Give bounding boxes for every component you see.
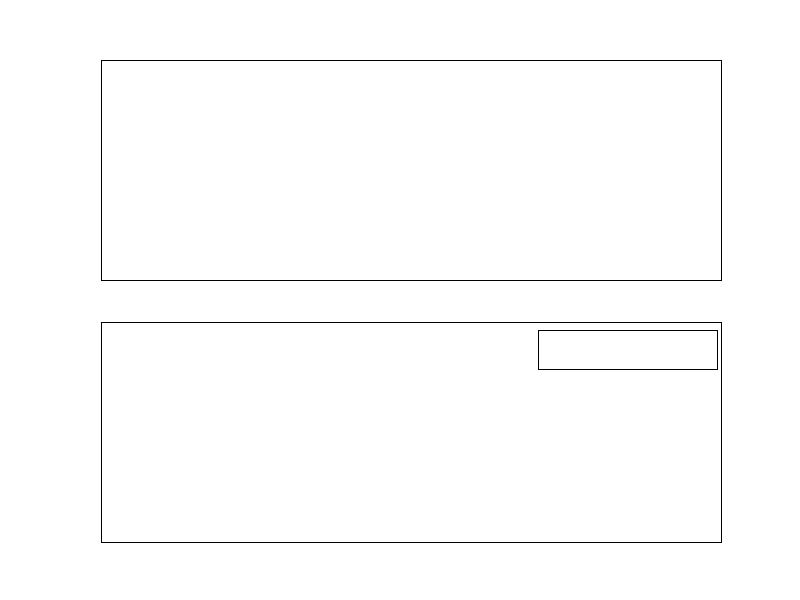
legend-box bbox=[538, 330, 718, 370]
figure-canvas bbox=[0, 0, 800, 600]
top-histogram-axes bbox=[101, 60, 722, 281]
mag-limit-line-swatch-icon bbox=[549, 349, 591, 351]
top-histogram-plot-area bbox=[102, 61, 721, 280]
